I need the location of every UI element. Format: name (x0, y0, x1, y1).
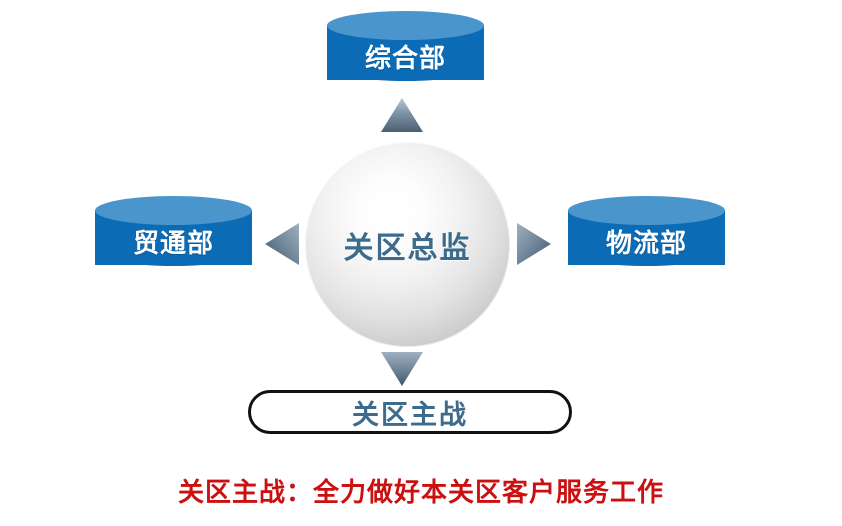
node-comprehensive-department[interactable]: 综合部 (327, 11, 484, 94)
node-logistics-department[interactable]: 物流部 (568, 196, 725, 279)
node-label: 贸通部 (95, 196, 252, 279)
caption-text: 关区主战：全力做好本关区客户服务工作 (0, 472, 842, 509)
arrow-up-icon (381, 98, 423, 132)
bottom-box-label: 关区主战 (352, 393, 468, 432)
node-trade-department[interactable]: 贸通部 (95, 196, 252, 279)
diagram-canvas: 综合部 贸通部 物流部 (0, 0, 842, 526)
bottom-rounded-box[interactable]: 关区主战 (248, 390, 572, 434)
center-sphere-label: 关区总监 (305, 142, 510, 347)
node-label: 物流部 (568, 196, 725, 279)
node-label: 综合部 (327, 11, 484, 94)
arrow-down-icon (381, 352, 423, 386)
arrow-left-icon (265, 223, 299, 265)
arrow-right-icon (517, 223, 551, 265)
